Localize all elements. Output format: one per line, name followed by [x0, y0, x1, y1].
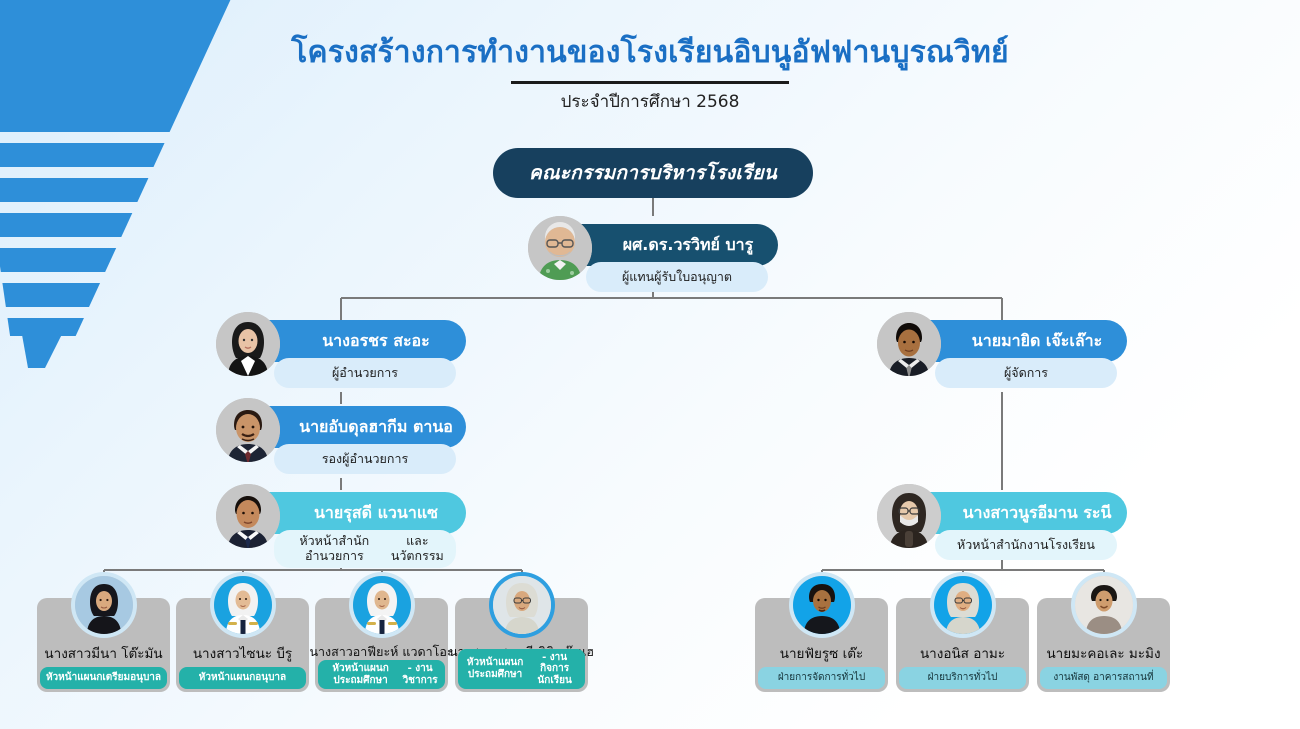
avatar-photo-license [528, 216, 592, 280]
card-badge: หัวหน้าแผนกเตรียมอนุบาล [40, 667, 167, 689]
avatar [214, 576, 272, 634]
avatar-photo-deputy [216, 398, 280, 462]
card-right-1[interactable]: นายฟัยรูซ เต๊ะ ฝ่ายการจัดการทั่วไป [755, 598, 888, 692]
card-name: นางสาวมีนา โต๊ะมัน [37, 642, 170, 664]
avatar [216, 398, 280, 462]
node-role: หัวหน้าสำนักงานโรงเรียน [935, 530, 1117, 560]
card-badge-line2: - งานวิชาการ [399, 663, 441, 686]
node-role: ผู้แทนผู้รับใบอนุญาต [586, 262, 768, 292]
card-badge-line2: - งานกิจการนักเรียน [528, 652, 581, 687]
avatar-photo-right-1 [793, 576, 851, 634]
avatar [353, 576, 411, 634]
node-role: รองผู้อำนวยการ [274, 444, 456, 474]
page-subtitle: ประจำปีการศึกษา 2568 [0, 91, 1300, 113]
avatar [793, 576, 851, 634]
node-role-line1: หัวหน้าสำนักอำนวยการ [282, 534, 387, 564]
node-school-office-head[interactable]: นางสาวนูรอีมาน ระนี หัวหน้าสำนักงานโรงเร… [877, 492, 1127, 568]
card-badge-line1: หัวหน้าแผนกประถมศึกษา [462, 657, 528, 680]
card-badge: งานพัสดุ อาคารสถานที่ [1040, 667, 1167, 689]
avatar [1075, 576, 1133, 634]
card-left-1[interactable]: นางสาวมีนา โต๊ะมัน หัวหน้าแผนกเตรียมอนุบ… [37, 598, 170, 692]
avatar-photo-director [216, 312, 280, 376]
card-name: นายมะคอเละ มะมิง [1037, 642, 1170, 664]
node-deputy-director[interactable]: นายอับดุลฮากีม ตานอ รองผู้อำนวยการ [216, 406, 466, 482]
chart-header: โครงสร้างการทำงานของโรงเรียนอิบนูอัฟฟานบ… [0, 34, 1300, 113]
card-right-3[interactable]: นายมะคอเละ มะมิง งานพัสดุ อาคารสถานที่ [1037, 598, 1170, 692]
node-office-head[interactable]: นายรุสดี แวนาแซ หัวหน้าสำนักอำนวยการและน… [216, 492, 466, 568]
node-role: ผู้จัดการ [935, 358, 1117, 388]
org-chart-canvas: โครงสร้างการทำงานของโรงเรียนอิบนูอัฟฟานบ… [0, 0, 1300, 729]
card-badge: ฝ่ายบริการทั่วไป [899, 667, 1026, 689]
card-badge: หัวหน้าแผนกประถมศึกษา- งานกิจการนักเรียน [458, 649, 585, 690]
avatar [528, 216, 592, 280]
node-role: หัวหน้าสำนักอำนวยการและนวัตกรรม [274, 530, 456, 568]
avatar [216, 312, 280, 376]
card-name: นางอนิส อามะ [896, 642, 1029, 664]
card-left-2[interactable]: นางสาวไซนะ บีรู หัวหน้าแผนกอนุบาล [176, 598, 309, 692]
card-badge-line1: หัวหน้าแผนกประถมศึกษา [322, 663, 399, 686]
avatar-photo-right-3 [1075, 576, 1133, 634]
avatar-photo-left-4 [493, 576, 551, 634]
card-left-3[interactable]: นางสาวอาฟียะห์ แวดาโอะ หัวหน้าแผนกประถมศ… [315, 598, 448, 692]
card-left-4[interactable]: นางสาวรุสณานี นิอิงเจ๊ะแฮ หัวหน้าแผนกประ… [455, 598, 588, 692]
node-license-representative[interactable]: ผศ.ดร.วรวิทย์ บารู ผู้แทนผู้รับใบอนุญาต [528, 224, 778, 300]
card-name: นางสาวไซนะ บีรู [176, 642, 309, 664]
avatar-photo-school-office-head [877, 484, 941, 548]
title-divider [511, 81, 789, 84]
avatar [877, 484, 941, 548]
card-name: นายฟัยรูซ เต๊ะ [755, 642, 888, 664]
avatar-photo-office-head [216, 484, 280, 548]
avatar-photo-right-2 [934, 576, 992, 634]
avatar-photo-left-3 [353, 576, 411, 634]
avatar-photo-left-2 [214, 576, 272, 634]
page-title: โครงสร้างการทำงานของโรงเรียนอิบนูอัฟฟานบ… [0, 34, 1300, 72]
card-badge: ฝ่ายการจัดการทั่วไป [758, 667, 885, 689]
avatar [75, 576, 133, 634]
card-badge: หัวหน้าแผนกอนุบาล [179, 667, 306, 689]
card-right-2[interactable]: นางอนิส อามะ ฝ่ายบริการทั่วไป [896, 598, 1029, 692]
avatar-photo-left-1 [75, 576, 133, 634]
avatar [216, 484, 280, 548]
node-manager[interactable]: นายมายิด เจ๊ะเล๊าะ ผู้จัดการ [877, 320, 1127, 396]
node-role-line2: และนวัตกรรม [387, 534, 448, 564]
avatar [934, 576, 992, 634]
node-director[interactable]: นางอรชร สะอะ ผู้อำนวยการ [216, 320, 466, 396]
avatar [493, 576, 551, 634]
avatar [877, 312, 941, 376]
node-role: ผู้อำนวยการ [274, 358, 456, 388]
root-node-board[interactable]: คณะกรรมการบริหารโรงเรียน [493, 148, 813, 198]
avatar-photo-manager [877, 312, 941, 376]
card-badge: หัวหน้าแผนกประถมศึกษา- งานวิชาการ [318, 660, 445, 689]
